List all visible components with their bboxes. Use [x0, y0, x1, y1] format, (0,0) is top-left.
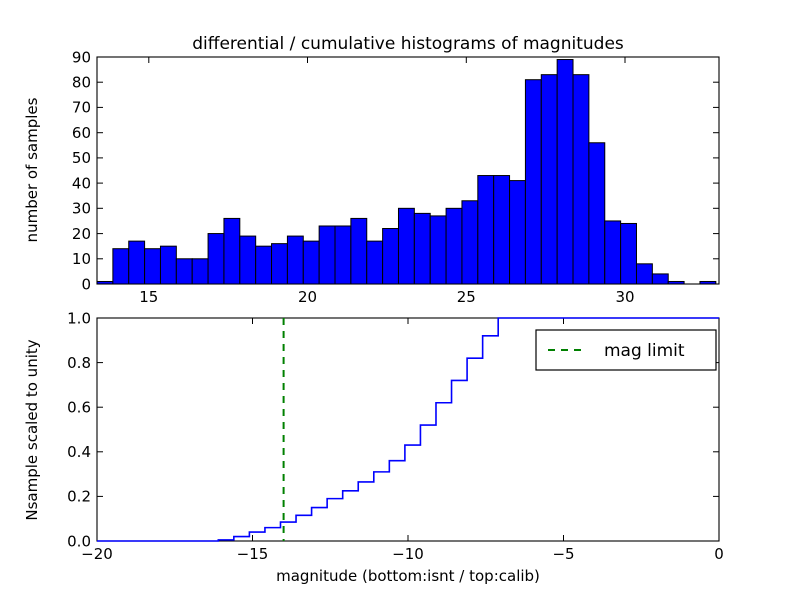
top-y-ticklabel: 20: [72, 225, 91, 243]
histogram-bar: [287, 236, 303, 284]
histogram-bar: [636, 264, 652, 284]
bottom-y-ticklabel: 0.2: [67, 488, 91, 506]
histogram-bar: [319, 226, 335, 284]
histogram-bar: [303, 241, 319, 284]
top-x-ticklabel: 15: [139, 288, 158, 306]
histogram-bar: [541, 75, 557, 284]
histogram-bar: [145, 249, 161, 284]
bottom-panel-x-axis-label: magnitude (bottom:isnt / top:calib): [276, 567, 540, 585]
histogram-bar: [272, 244, 288, 284]
histogram-bar: [335, 226, 351, 284]
histogram-bar: [256, 246, 272, 284]
top-y-ticklabel: 70: [72, 99, 91, 117]
bottom-x-ticklabel: −10: [392, 545, 424, 563]
histogram-bar: [573, 75, 589, 284]
histogram-bar: [430, 216, 446, 284]
histogram-bar: [367, 241, 383, 284]
histogram-bar: [414, 213, 430, 284]
histogram-bar: [192, 259, 208, 284]
histogram-bar: [129, 241, 145, 284]
histogram-bar: [478, 176, 494, 284]
top-x-ticklabel: 25: [457, 288, 476, 306]
top-y-ticklabel: 50: [72, 149, 91, 167]
histogram-bar: [494, 176, 510, 284]
top-y-ticklabel: 60: [72, 124, 91, 142]
matplotlib-figure: differential / cumulative histograms of …: [0, 0, 800, 600]
legend[interactable]: mag limit: [536, 330, 716, 370]
bottom-x-ticklabel: −15: [237, 545, 269, 563]
bottom-y-ticklabel: 0.6: [67, 399, 91, 417]
top-y-ticklabel: 90: [72, 48, 91, 66]
histogram-bar: [557, 60, 573, 284]
histogram-bar: [113, 249, 129, 284]
top-panel-axes: differential / cumulative histograms of …: [23, 34, 719, 306]
histogram-bar: [240, 236, 256, 284]
top-x-ticklabel: 20: [298, 288, 317, 306]
top-y-ticklabel: 0: [81, 275, 91, 293]
histogram-bar: [351, 218, 367, 284]
bottom-y-ticklabel: 0.4: [67, 443, 91, 461]
bottom-x-ticklabel: 0: [714, 545, 724, 563]
histogram-bar: [462, 201, 478, 284]
bottom-x-ticklabel: −20: [81, 545, 113, 563]
histogram-bar: [446, 208, 462, 284]
bottom-x-ticklabel: −5: [552, 545, 574, 563]
histogram-bar: [398, 208, 414, 284]
top-panel-y-axis-label: number of samples: [23, 97, 41, 242]
chart-title: differential / cumulative histograms of …: [192, 34, 624, 54]
histogram-bar: [510, 181, 526, 284]
bottom-y-ticklabel: 1.0: [67, 309, 91, 327]
top-y-ticklabel: 30: [72, 200, 91, 218]
top-y-ticklabel: 40: [72, 174, 91, 192]
top-y-ticklabel: 80: [72, 74, 91, 92]
histogram-bar: [652, 274, 668, 284]
histogram-bar: [621, 223, 637, 284]
histogram-bar: [525, 80, 541, 284]
figure-canvas: differential / cumulative histograms of …: [0, 0, 800, 600]
legend-label-mag-limit: mag limit: [604, 341, 685, 361]
histogram-bar: [700, 281, 716, 284]
histogram-bar: [668, 281, 684, 284]
histogram-bar: [176, 259, 192, 284]
top-y-ticklabel: 10: [72, 250, 91, 268]
bottom-y-ticklabel: 0.8: [67, 354, 91, 372]
histogram-bar: [160, 246, 176, 284]
bottom-panel-y-axis-label: Nsample scaled to unity: [23, 339, 41, 520]
histogram-bar: [383, 229, 399, 284]
histogram-bar: [605, 221, 621, 284]
histogram-bar: [224, 218, 240, 284]
top-x-ticklabel: 30: [615, 288, 634, 306]
histogram-bar: [208, 234, 224, 284]
histogram-bar: [97, 281, 113, 284]
histogram-bar: [589, 143, 605, 284]
